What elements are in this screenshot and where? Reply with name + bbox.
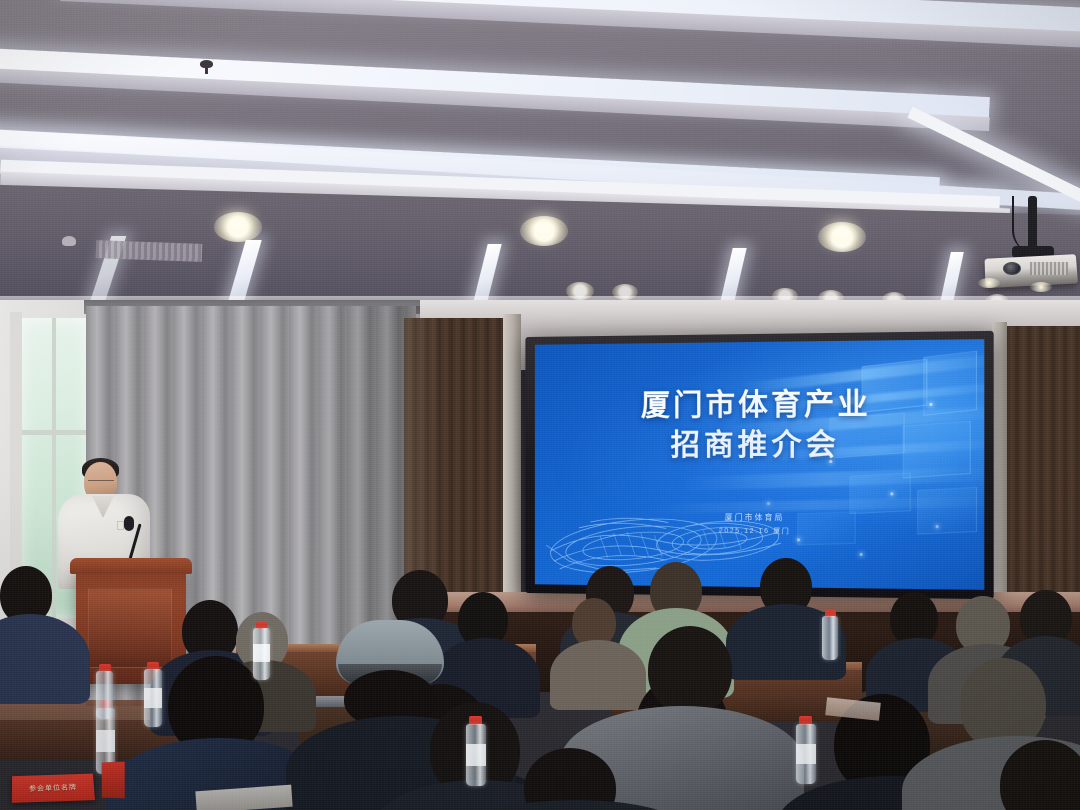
- slide-sparkle: [860, 553, 863, 556]
- slide-title: 厦门市体育产业 招商推介会: [535, 384, 984, 466]
- bottle-body: [96, 671, 113, 719]
- recessed-downlight: [833, 229, 849, 238]
- window-mullion: [52, 318, 56, 618]
- podium-top: [70, 558, 192, 574]
- sprinkler-head: [200, 60, 213, 68]
- bottle-label: [466, 744, 486, 766]
- bottle-label: [253, 644, 270, 662]
- projector-light-spill: [978, 278, 1000, 288]
- slide-tile: [850, 473, 911, 514]
- slide-title-line2: 招商推介会: [535, 425, 984, 466]
- bottle-label: [96, 730, 115, 752]
- projector-light-spill: [1030, 282, 1052, 292]
- air-vent-grille: [96, 240, 203, 262]
- ceiling: [0, 0, 1080, 322]
- slide-sparkle: [797, 538, 800, 541]
- projector-vent: [1030, 262, 1068, 275]
- recessed-downlight: [535, 223, 551, 232]
- podium-front-panel: [88, 588, 172, 668]
- attendee-shoulders: [550, 640, 646, 710]
- screen-surface: 厦门市体育产业 招商推介会 厦门市体育局 2025.12.16 厦门: [535, 339, 984, 590]
- bottle-label: [144, 688, 162, 708]
- speaker-badge: [117, 521, 124, 530]
- microphone-head: [124, 516, 134, 531]
- name-card-text: 参会单位名牌: [12, 782, 94, 794]
- table-name-card: [102, 762, 125, 799]
- attendee-head: [648, 626, 732, 714]
- recessed-downlight: [229, 219, 245, 228]
- slide-title-line1: 厦门市体育产业: [641, 388, 871, 422]
- conference-hall-photo: 厦门市体育产业 招商推介会 厦门市体育局 2025.12.16 厦门: [0, 0, 1080, 810]
- bottle-label: [796, 744, 816, 764]
- table-name-card: 参会单位名牌: [12, 774, 95, 803]
- speaker-glasses: [88, 480, 114, 486]
- projector-lens: [1003, 262, 1021, 275]
- projector-mount-arm: [1028, 196, 1037, 252]
- projection-screen[interactable]: 厦门市体育产业 招商推介会 厦门市体育局 2025.12.16 厦门: [525, 331, 993, 599]
- bottle-body: [822, 616, 838, 660]
- slide-sparkle: [890, 492, 893, 495]
- slide-sparkle: [767, 502, 770, 505]
- ceiling-speaker: [62, 236, 76, 246]
